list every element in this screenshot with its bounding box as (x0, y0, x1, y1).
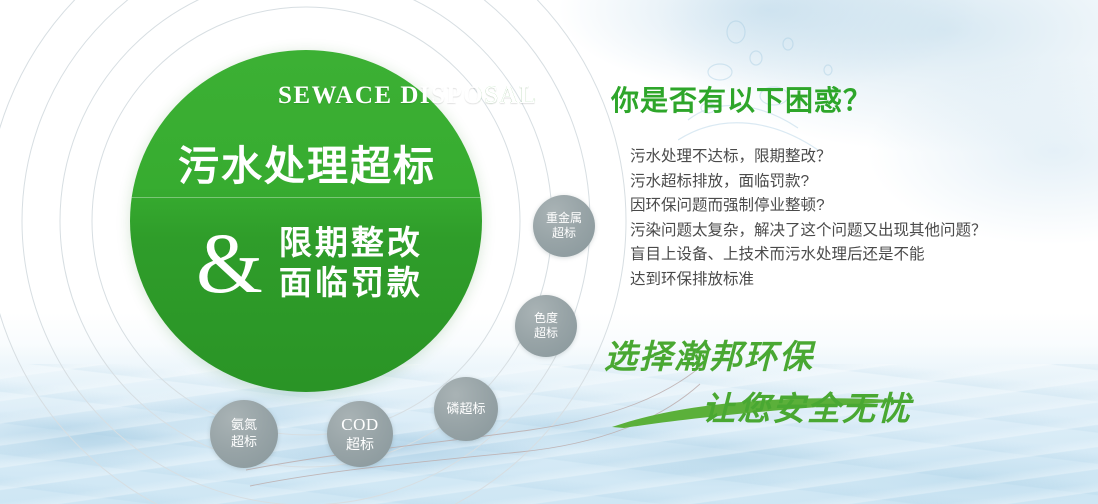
question-item: 污染问题太复杂，解决了这个问题又出现其他问题？ (630, 219, 987, 244)
bubble-heavy-metal[interactable]: 重金属 超标 (533, 195, 595, 257)
slogan-block: 选择瀚邦环保 让您安全无忧 (604, 330, 912, 430)
hero-eyebrow: SEWACE DISPOSAL (278, 82, 537, 110)
ampersand-glyph: & (196, 222, 263, 304)
hero-title: 污水处理超标 (178, 132, 436, 192)
bubble-cod-line-1: COD (341, 414, 378, 436)
hero-subtitle-lines: 限期整改 面临罚款 (279, 223, 423, 303)
questions-title: 你是否有以下困惑？ (611, 79, 872, 119)
slogan-line-1: 选择瀚邦环保 (604, 330, 912, 378)
bubble-cod[interactable]: COD 超标 (327, 401, 393, 467)
question-item: 达到环保排放标准 (630, 268, 987, 293)
hero-subtitle-block: & 限期整改 面临罚款 (196, 222, 423, 304)
bubble-chromaticity[interactable]: 色度 超标 (515, 295, 577, 357)
questions-list: 污水处理不达标，限期整改？ 污水超标排放，面临罚款? 因环保问题而强制停业整顿?… (630, 145, 987, 292)
bubble-heavy-metal-line-1: 重金属 (546, 211, 582, 226)
question-item: 污水超标排放，面临罚款? (630, 170, 987, 195)
bubble-ammonia-nitrogen-line-2: 超标 (231, 434, 257, 451)
hero-subtitle-line-2: 面临罚款 (279, 263, 423, 303)
question-item: 污水处理不达标，限期整改？ (630, 145, 987, 170)
bubble-heavy-metal-line-2: 超标 (552, 226, 576, 241)
bubble-phosphorus[interactable]: 磷超标 (434, 377, 498, 441)
hero-subtitle-line-1: 限期整改 (279, 223, 423, 263)
slogan-line-2: 让您安全无忧 (702, 382, 912, 430)
bubble-chromaticity-line-2: 超标 (534, 326, 558, 341)
bubble-ammonia-nitrogen-line-1: 氨氮 (231, 417, 257, 434)
bubble-cod-line-2: 超标 (346, 436, 374, 454)
sewage-treatment-banner: SEWACE DISPOSAL SEWACE DISPOSAL 污水处理超标 &… (0, 0, 1098, 504)
bubble-chromaticity-line-1: 色度 (534, 311, 558, 326)
bubble-ammonia-nitrogen[interactable]: 氨氮 超标 (210, 400, 278, 468)
question-item: 因环保问题而强制停业整顿? (630, 194, 987, 219)
question-item: 盲目上设备、上技术而污水处理后还是不能 (630, 243, 987, 268)
circle-divider (130, 197, 482, 198)
bubble-phosphorus-line-1: 磷超标 (446, 401, 485, 418)
